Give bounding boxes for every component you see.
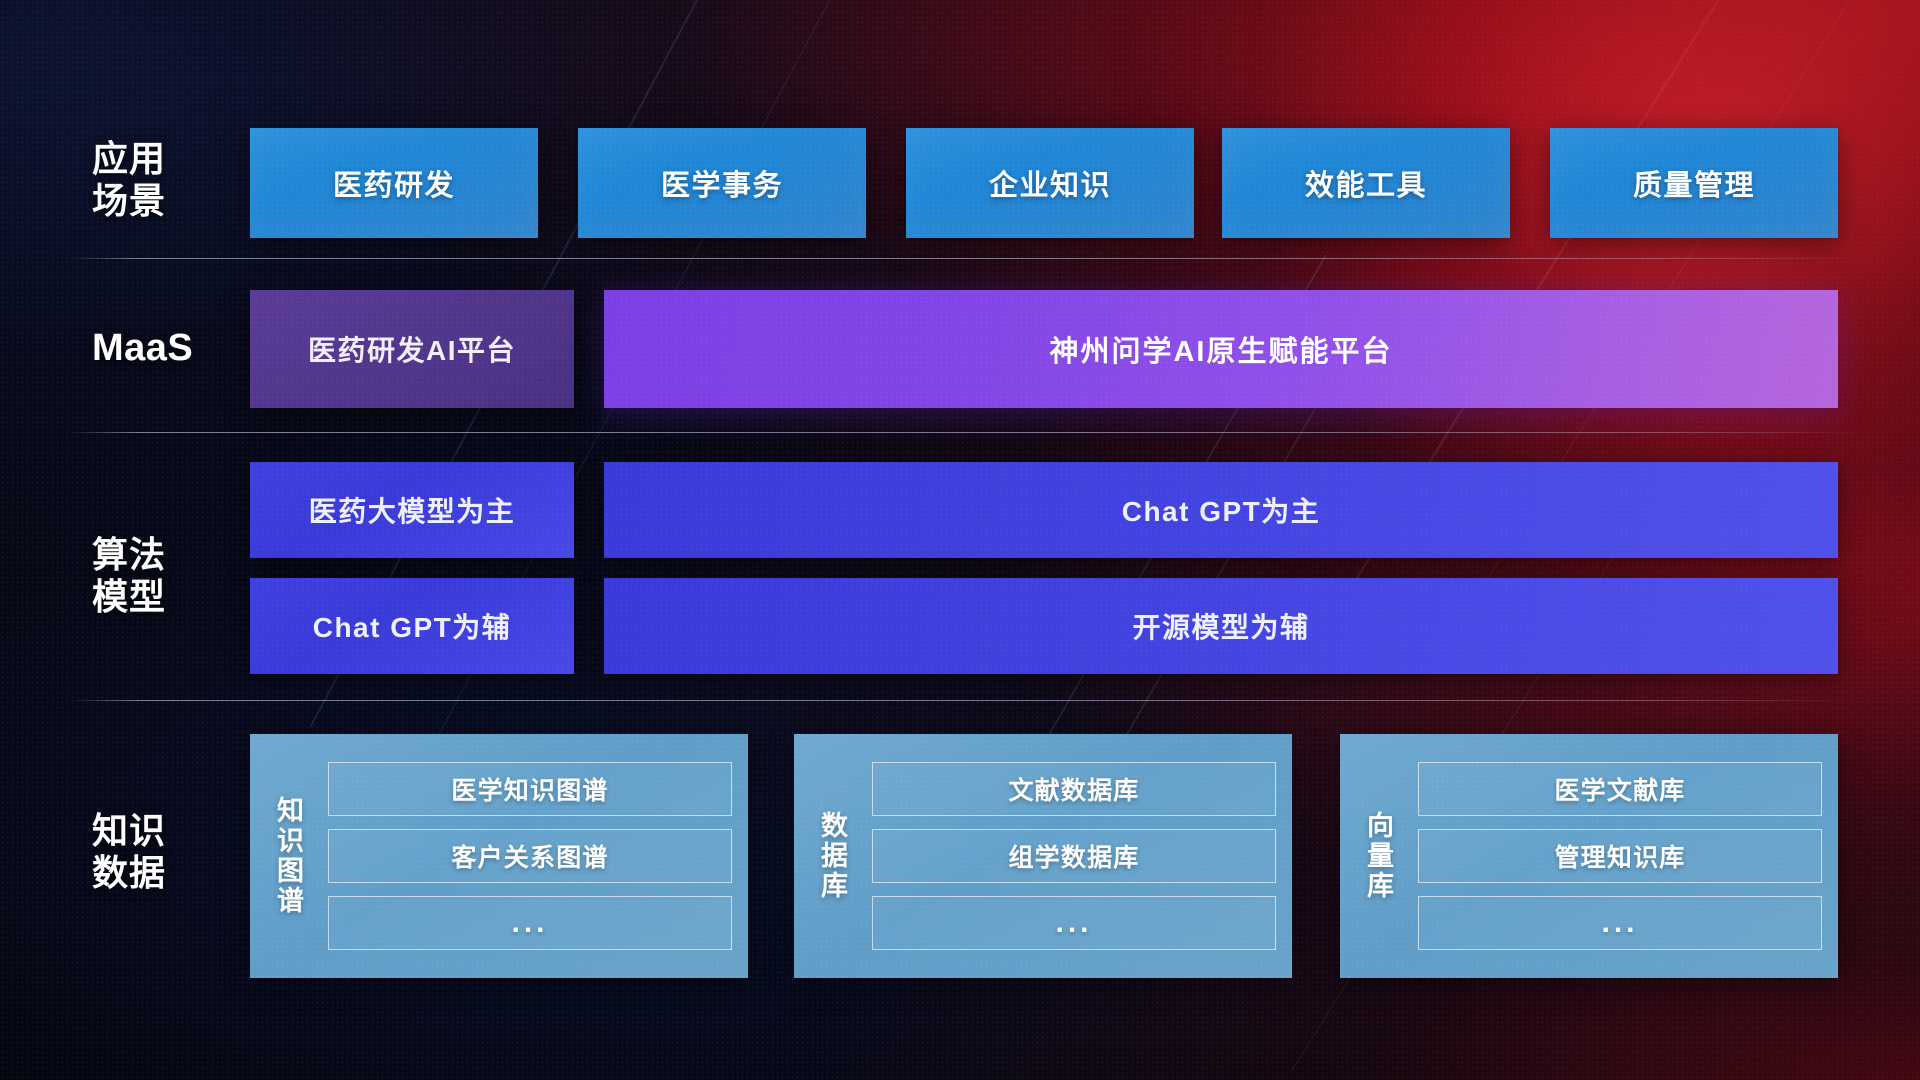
divider-3 bbox=[68, 700, 1864, 701]
maas-box-label: 医药研发AI平台 bbox=[308, 329, 516, 369]
vlabel-char: 据 bbox=[804, 841, 866, 871]
row-label-line: 数据 bbox=[92, 852, 218, 894]
algo-box-label: 医药大模型为主 bbox=[309, 490, 516, 530]
row-maas: MaaS 医药研发AI平台 神州问学AI原生赋能平台 bbox=[0, 290, 1920, 408]
row-label-knowledge-data: 知识 数据 bbox=[92, 810, 218, 894]
row-label-algorithm-model: 算法 模型 bbox=[92, 534, 218, 618]
row-label-line: 知识 bbox=[92, 810, 218, 852]
knowledge-item[interactable]: 组学数据库 bbox=[872, 829, 1276, 883]
row-label-line: 算法 bbox=[92, 534, 218, 576]
knowledge-panel-vertical-label: 数 据 库 bbox=[804, 811, 866, 902]
app-box-medicine-rd[interactable]: 医药研发 bbox=[250, 128, 538, 238]
vlabel-char: 谱 bbox=[260, 886, 322, 916]
app-box-quality-management[interactable]: 质量管理 bbox=[1550, 128, 1838, 238]
vlabel-char: 图 bbox=[260, 856, 322, 886]
vlabel-char: 库 bbox=[1350, 871, 1412, 901]
row-algorithm-model: 算法 模型 医药大模型为主 Chat GPT为主 Chat GPT为辅 开源模型… bbox=[0, 462, 1920, 698]
divider-2 bbox=[68, 432, 1864, 433]
architecture-diagram: 应用 场景 医药研发 医学事务 企业知识 效能工具 质量管理 MaaS 医药研发… bbox=[0, 0, 1920, 1080]
maas-box-medicine-ai-platform[interactable]: 医药研发AI平台 bbox=[250, 290, 574, 408]
row-label-maas: MaaS bbox=[92, 326, 218, 370]
knowledge-item-more[interactable]: ... bbox=[328, 896, 732, 950]
knowledge-panel-vector-store[interactable]: 向 量 库 医学文献库 管理知识库 ... bbox=[1340, 734, 1838, 978]
app-box-label: 质量管理 bbox=[1633, 162, 1755, 204]
vlabel-char: 知 bbox=[260, 796, 322, 826]
divider-1 bbox=[68, 258, 1864, 259]
algo-box-chatgpt-secondary[interactable]: Chat GPT为辅 bbox=[250, 578, 574, 674]
algo-box-chatgpt-primary[interactable]: Chat GPT为主 bbox=[604, 462, 1838, 558]
app-box-efficiency-tools[interactable]: 效能工具 bbox=[1222, 128, 1510, 238]
row-label-line: 场景 bbox=[92, 180, 218, 222]
knowledge-panel-vertical-label: 向 量 库 bbox=[1350, 811, 1412, 902]
knowledge-panel-items: 医学知识图谱 客户关系图谱 ... bbox=[322, 762, 732, 950]
row-application-scenarios: 应用 场景 医药研发 医学事务 企业知识 效能工具 质量管理 bbox=[0, 128, 1920, 238]
knowledge-item-more[interactable]: ... bbox=[1418, 896, 1822, 950]
algo-box-opensource-secondary[interactable]: 开源模型为辅 bbox=[604, 578, 1838, 674]
row-label-application-scenarios: 应用 场景 bbox=[92, 138, 218, 222]
row-label-line: 模型 bbox=[92, 576, 218, 618]
row-label-line: 应用 bbox=[92, 138, 218, 180]
knowledge-panel-items: 医学文献库 管理知识库 ... bbox=[1412, 762, 1822, 950]
knowledge-panel-vertical-label: 知 识 图 谱 bbox=[260, 796, 322, 917]
knowledge-item[interactable]: 管理知识库 bbox=[1418, 829, 1822, 883]
algo-box-label: Chat GPT为主 bbox=[1122, 490, 1321, 530]
knowledge-item[interactable]: 医学文献库 bbox=[1418, 762, 1822, 816]
app-box-enterprise-knowledge[interactable]: 企业知识 bbox=[906, 128, 1194, 238]
maas-box-label: 神州问学AI原生赋能平台 bbox=[1049, 328, 1392, 370]
knowledge-item[interactable]: 医学知识图谱 bbox=[328, 762, 732, 816]
vlabel-char: 识 bbox=[260, 826, 322, 856]
vlabel-char: 向 bbox=[1350, 811, 1412, 841]
vlabel-char: 库 bbox=[804, 871, 866, 901]
knowledge-panel-knowledge-graph[interactable]: 知 识 图 谱 医学知识图谱 客户关系图谱 ... bbox=[250, 734, 748, 978]
row-label-line: MaaS bbox=[92, 326, 218, 370]
knowledge-item[interactable]: 文献数据库 bbox=[872, 762, 1276, 816]
knowledge-panel-items: 文献数据库 组学数据库 ... bbox=[866, 762, 1276, 950]
algo-box-medicine-large-model-primary[interactable]: 医药大模型为主 bbox=[250, 462, 574, 558]
app-box-label: 医学事务 bbox=[661, 162, 783, 204]
algo-box-label: 开源模型为辅 bbox=[1132, 606, 1309, 646]
vlabel-char: 数 bbox=[804, 811, 866, 841]
knowledge-item-more[interactable]: ... bbox=[872, 896, 1276, 950]
knowledge-item[interactable]: 客户关系图谱 bbox=[328, 829, 732, 883]
row-knowledge-data: 知识 数据 知 识 图 谱 医学知识图谱 客户关系图谱 ... 数 据 库 bbox=[0, 734, 1920, 978]
maas-box-shenzhou-wenxue-platform[interactable]: 神州问学AI原生赋能平台 bbox=[604, 290, 1838, 408]
vlabel-char: 量 bbox=[1350, 841, 1412, 871]
algo-box-label: Chat GPT为辅 bbox=[313, 606, 512, 646]
knowledge-panel-database[interactable]: 数 据 库 文献数据库 组学数据库 ... bbox=[794, 734, 1292, 978]
app-box-label: 企业知识 bbox=[989, 162, 1111, 204]
app-box-medical-affairs[interactable]: 医学事务 bbox=[578, 128, 866, 238]
app-box-label: 医药研发 bbox=[333, 162, 455, 204]
app-box-label: 效能工具 bbox=[1305, 162, 1427, 204]
